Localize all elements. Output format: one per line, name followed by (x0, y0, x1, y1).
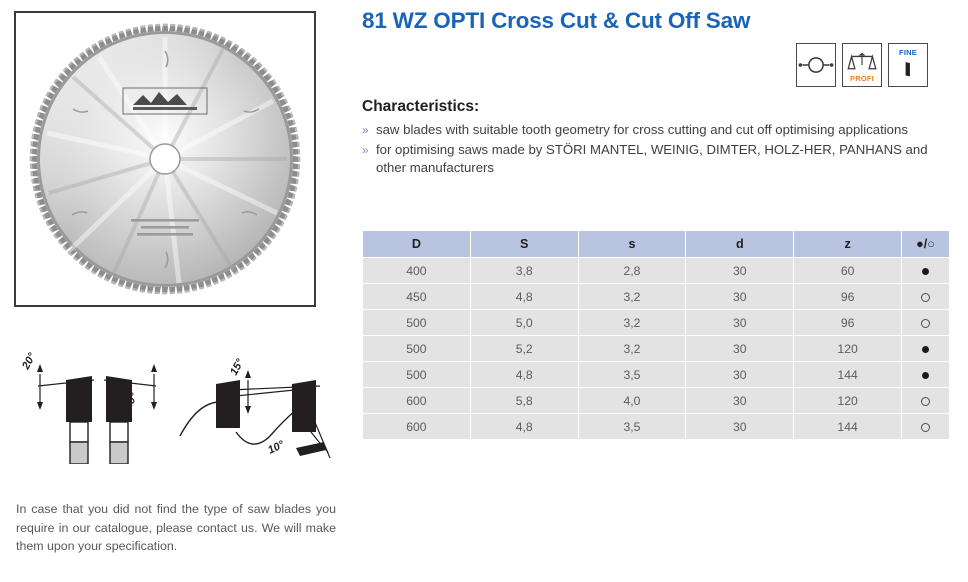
table-row: 4003,82,83060 (363, 258, 950, 284)
cell-D: 400 (363, 258, 471, 284)
column-header-z: z (794, 231, 902, 258)
cell-D: 450 (363, 284, 471, 310)
product-photo-frame (14, 11, 316, 307)
tooth-diagram-left: 20° 20° (20, 351, 157, 464)
profi-label: PROFI (843, 74, 881, 83)
table-row: 4504,83,23096 (363, 284, 950, 310)
hollow-dot-icon (921, 397, 930, 406)
cell-mark (902, 388, 950, 414)
page-title: 81 WZ OPTI Cross Cut & Cut Off Saw (362, 8, 750, 34)
characteristics-heading: Characteristics: (362, 98, 479, 116)
cell-D: 600 (363, 414, 471, 440)
cell-z: 96 (794, 284, 902, 310)
bore-hole-glyph (797, 44, 835, 86)
cell-z: 144 (794, 362, 902, 388)
cell-mark (902, 362, 950, 388)
cell-d: 30 (686, 388, 794, 414)
icon-badges: PROFI FINE (796, 43, 928, 87)
characteristic-text: for optimising saws made by STÖRI MANTEL… (376, 141, 952, 178)
filled-dot-icon (922, 268, 929, 275)
cell-s: 3,2 (578, 336, 686, 362)
cell-s: 4,0 (578, 388, 686, 414)
column-header-s: s (578, 231, 686, 258)
cell-s: 3,5 (578, 414, 686, 440)
cell-S: 4,8 (470, 414, 578, 440)
cell-s: 2,8 (578, 258, 686, 284)
bullet-icon: » (362, 141, 376, 178)
cell-z: 120 (794, 336, 902, 362)
list-item: » saw blades with suitable tooth geometr… (362, 121, 952, 140)
cell-d: 30 (686, 310, 794, 336)
filled-dot-icon (922, 372, 929, 379)
cell-s: 3,5 (578, 362, 686, 388)
cell-d: 30 (686, 414, 794, 440)
tooth-geometry-diagrams: 20° 20° 15° (8, 336, 348, 464)
angle-label-4: 10° (266, 438, 287, 456)
cell-z: 144 (794, 414, 902, 440)
table-row: 5005,23,230120 (363, 336, 950, 362)
column-header-D: D (363, 231, 471, 258)
table-header-row: D S s d z ●/○ (363, 231, 950, 258)
cell-S: 4,8 (470, 284, 578, 310)
hollow-dot-icon (921, 319, 930, 328)
catalogue-note: In case that you did not find the type o… (16, 500, 336, 556)
cell-z: 60 (794, 258, 902, 284)
cell-mark (902, 336, 950, 362)
column-header-mark: ●/○ (902, 231, 950, 258)
cell-mark (902, 284, 950, 310)
bore-hole-icon (796, 43, 836, 87)
cell-D: 600 (363, 388, 471, 414)
column-header-d: d (686, 231, 794, 258)
hollow-dot-icon (921, 293, 930, 302)
column-header-S: S (470, 231, 578, 258)
cell-mark (902, 258, 950, 284)
cell-d: 30 (686, 336, 794, 362)
fine-label: FINE (889, 48, 927, 57)
cell-s: 3,2 (578, 310, 686, 336)
table-row: 5005,03,23096 (363, 310, 950, 336)
cell-z: 96 (794, 310, 902, 336)
tooth-diagram-right: 15° 10° (180, 357, 330, 458)
cell-d: 30 (686, 284, 794, 310)
filled-dot-icon (922, 346, 929, 353)
right-column: 81 WZ OPTI Cross Cut & Cut Off Saw PROFI (356, 0, 968, 582)
cell-mark (902, 414, 950, 440)
cell-d: 30 (686, 362, 794, 388)
bullet-icon: » (362, 121, 376, 140)
angle-label-3: 15° (228, 357, 247, 378)
cell-z: 120 (794, 388, 902, 414)
list-item: » for optimising saws made by STÖRI MANT… (362, 141, 952, 178)
cell-d: 30 (686, 258, 794, 284)
table-row: 6004,83,530144 (363, 414, 950, 440)
cell-S: 5,2 (470, 336, 578, 362)
fine-icon: FINE (888, 43, 928, 87)
profi-icon: PROFI (842, 43, 882, 87)
table-row: 6005,84,030120 (363, 388, 950, 414)
saw-blade-photo (29, 23, 301, 295)
angle-label-1: 20° (20, 351, 39, 373)
table-row: 5004,83,530144 (363, 362, 950, 388)
table-body: 4003,82,830604504,83,230965005,03,230965… (363, 258, 950, 440)
cell-mark (902, 310, 950, 336)
cell-S: 4,8 (470, 362, 578, 388)
specification-table: D S s d z ●/○ 4003,82,830604504,83,23096… (362, 230, 950, 440)
cell-D: 500 (363, 336, 471, 362)
hollow-dot-icon (921, 423, 930, 432)
cell-D: 500 (363, 362, 471, 388)
characteristics-list: » saw blades with suitable tooth geometr… (362, 121, 952, 179)
characteristic-text: saw blades with suitable tooth geometry … (376, 121, 952, 140)
cell-D: 500 (363, 310, 471, 336)
cell-S: 5,0 (470, 310, 578, 336)
cell-s: 3,2 (578, 284, 686, 310)
cell-S: 5,8 (470, 388, 578, 414)
cell-S: 3,8 (470, 258, 578, 284)
left-column: 20° 20° 15° (0, 0, 356, 582)
